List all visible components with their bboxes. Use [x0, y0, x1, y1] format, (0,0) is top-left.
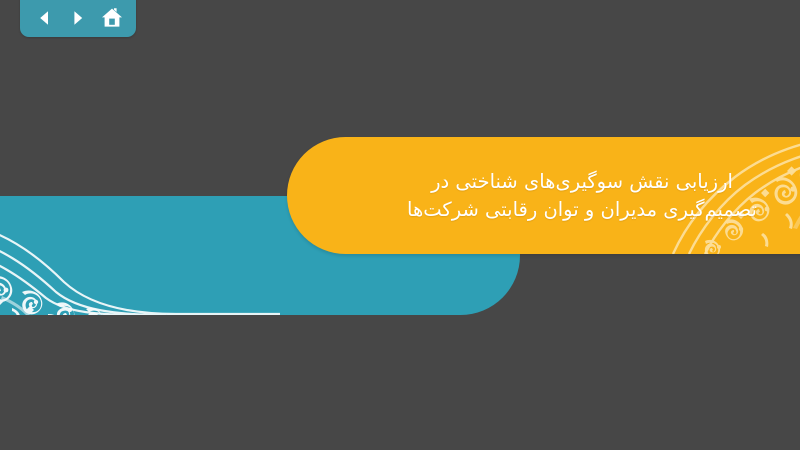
title-card: ارزیابی نقش سوگیری‌های شناختی در تصمیم‌گ… — [287, 137, 800, 254]
home-icon — [101, 7, 123, 29]
title-line-2: تصمیم‌گیری مدیران و توان رقابتی شرکت‌ها — [407, 196, 757, 224]
presentation-slide: ارزیابی نقش سوگیری‌های شناختی در تصمیم‌گ… — [0, 0, 800, 450]
forward-icon — [68, 8, 88, 28]
title-line-1: ارزیابی نقش سوگیری‌های شناختی در — [431, 168, 733, 196]
home-button[interactable] — [99, 5, 125, 31]
back-icon — [34, 8, 54, 28]
back-button[interactable] — [31, 5, 57, 31]
forward-button[interactable] — [65, 5, 91, 31]
navigation-bar — [20, 0, 136, 37]
slide-title: ارزیابی نقش سوگیری‌های شناختی در تصمیم‌گ… — [372, 137, 792, 254]
arabesque-ornament — [0, 196, 280, 315]
